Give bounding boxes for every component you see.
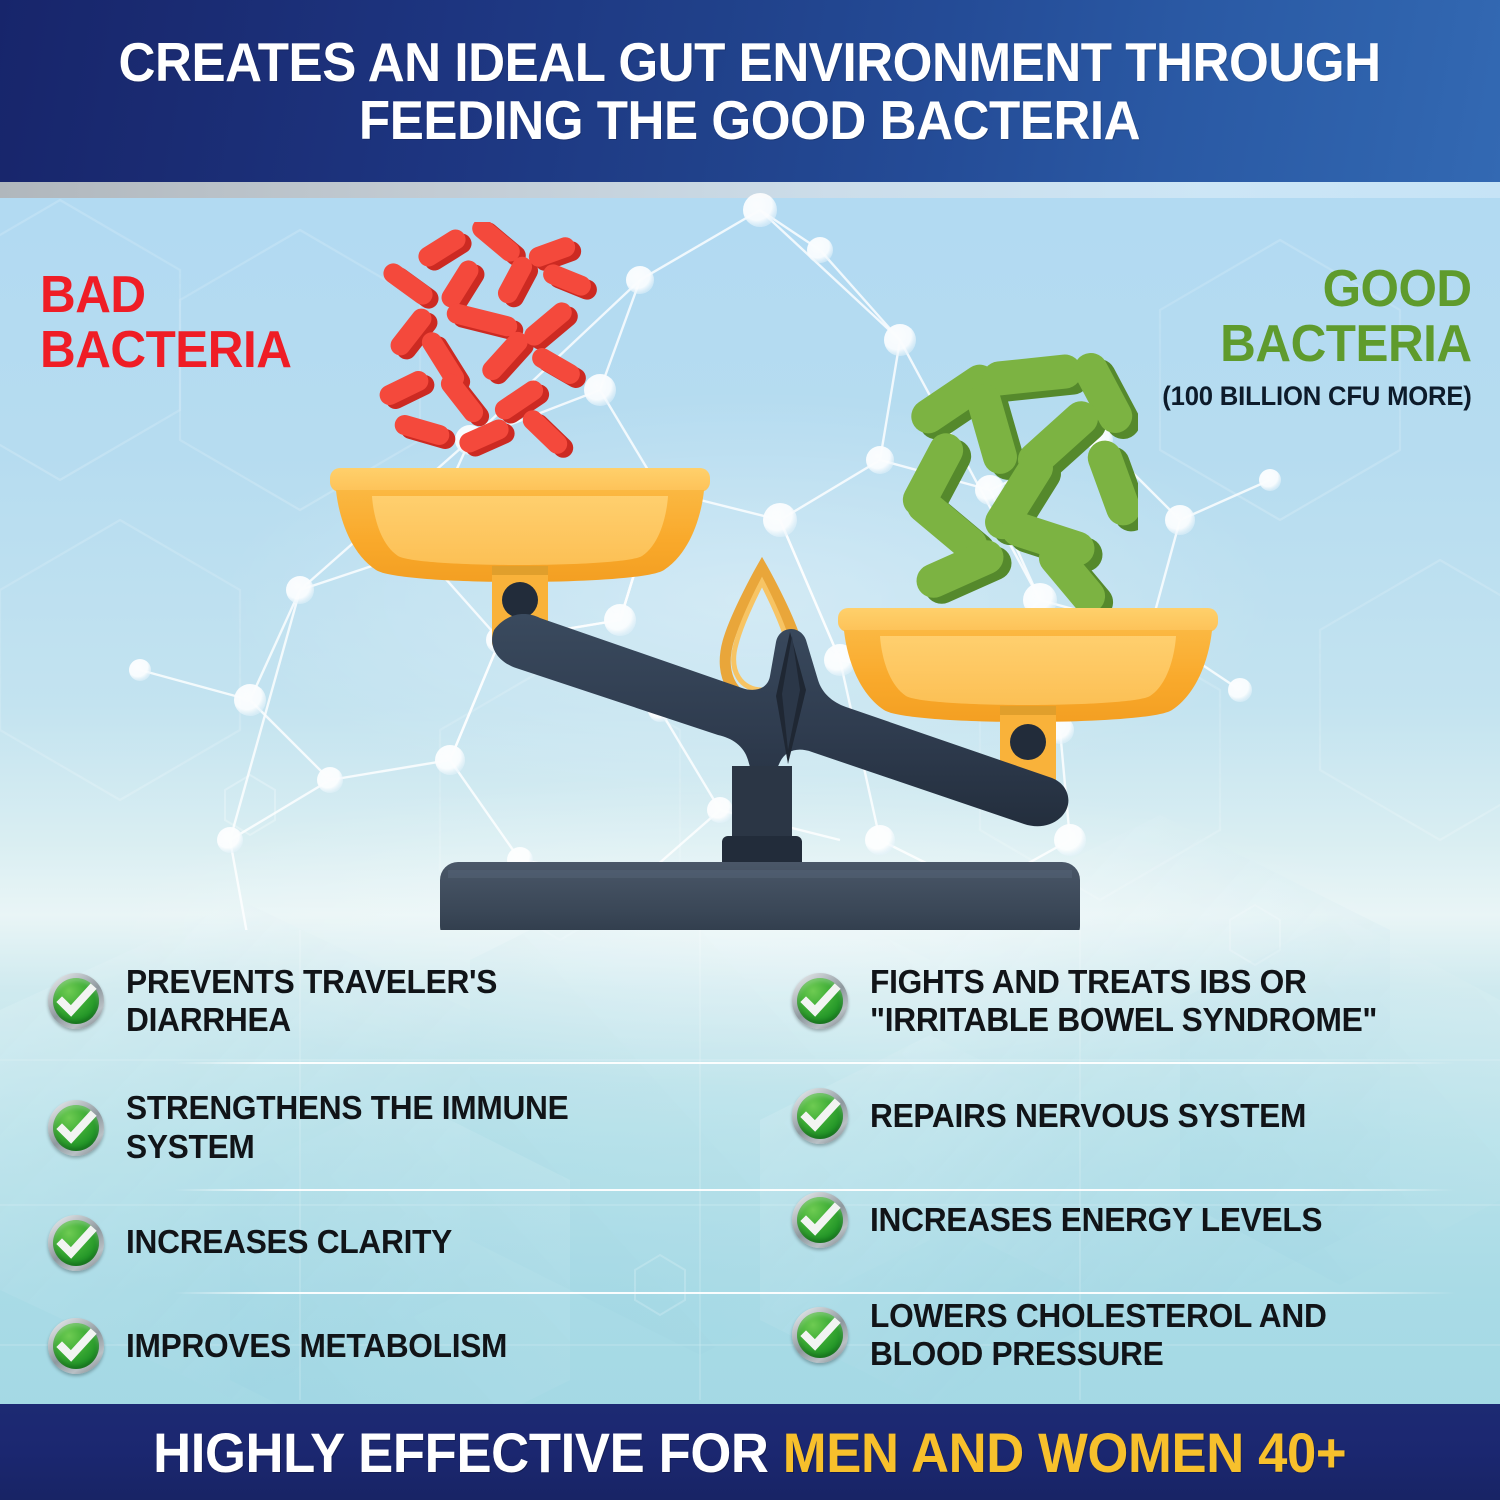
benefit-item: LOWERS CHOLESTEROL AND BLOOD PRESSURE — [792, 1272, 1470, 1398]
check-icon — [792, 973, 848, 1029]
benefit-label: LOWERS CHOLESTEROL AND BLOOD PRESSURE — [870, 1297, 1327, 1374]
good-bacteria-cfu-label: (100 BILLION CFU MORE) — [1163, 381, 1472, 412]
footer-banner: HIGHLY EFFECTIVE FOR MEN AND WOMEN 40+ — [0, 1404, 1500, 1500]
footer-tagline-primary: HIGHLY EFFECTIVE FOR — [153, 1421, 783, 1484]
infographic-root: CREATES AN IDEAL GUT ENVIRONMENT THROUGH… — [0, 0, 1500, 1500]
benefit-label: REPAIRS NERVOUS SYSTEM — [870, 1097, 1306, 1135]
header-banner: CREATES AN IDEAL GUT ENVIRONMENT THROUGH… — [0, 0, 1500, 182]
check-icon — [792, 1192, 848, 1248]
red-bacteria-cluster-icon — [378, 222, 606, 472]
scale-column — [722, 766, 802, 868]
page-title: CREATES AN IDEAL GUT ENVIRONMENT THROUGH… — [97, 33, 1404, 150]
check-icon — [792, 1307, 848, 1363]
benefit-label: FIGHTS AND TREATS IBS OR "IRRITABLE BOWE… — [870, 963, 1377, 1040]
good-bacteria-label: GOOD BACTERIA — [1163, 262, 1472, 371]
green-bacteria-cluster-icon — [888, 352, 1138, 608]
scale-base — [412, 862, 1112, 930]
check-icon — [792, 1088, 848, 1144]
benefits-section: PREVENTS TRAVELER'S DIARRHEA STRENGTHENS… — [0, 938, 1500, 1398]
good-bacteria-label-group: GOOD BACTERIA (100 BILLION CFU MORE) — [1146, 262, 1472, 412]
footer-tagline: HIGHLY EFFECTIVE FOR MEN AND WOMEN 40+ — [153, 1420, 1346, 1485]
benefit-item: REPAIRS NERVOUS SYSTEM — [792, 1064, 1470, 1168]
benefits-column-right: FIGHTS AND TREATS IBS OR "IRRITABLE BOWE… — [0, 938, 1500, 1398]
footer-tagline-highlight: MEN AND WOMEN 40+ — [783, 1421, 1346, 1484]
benefit-label: INCREASES ENERGY LEVELS — [870, 1201, 1322, 1239]
benefit-item: FIGHTS AND TREATS IBS OR "IRRITABLE BOWE… — [792, 938, 1470, 1064]
benefit-item: INCREASES ENERGY LEVELS — [792, 1168, 1470, 1272]
bad-bacteria-label: BAD BACTERIA — [40, 268, 291, 377]
